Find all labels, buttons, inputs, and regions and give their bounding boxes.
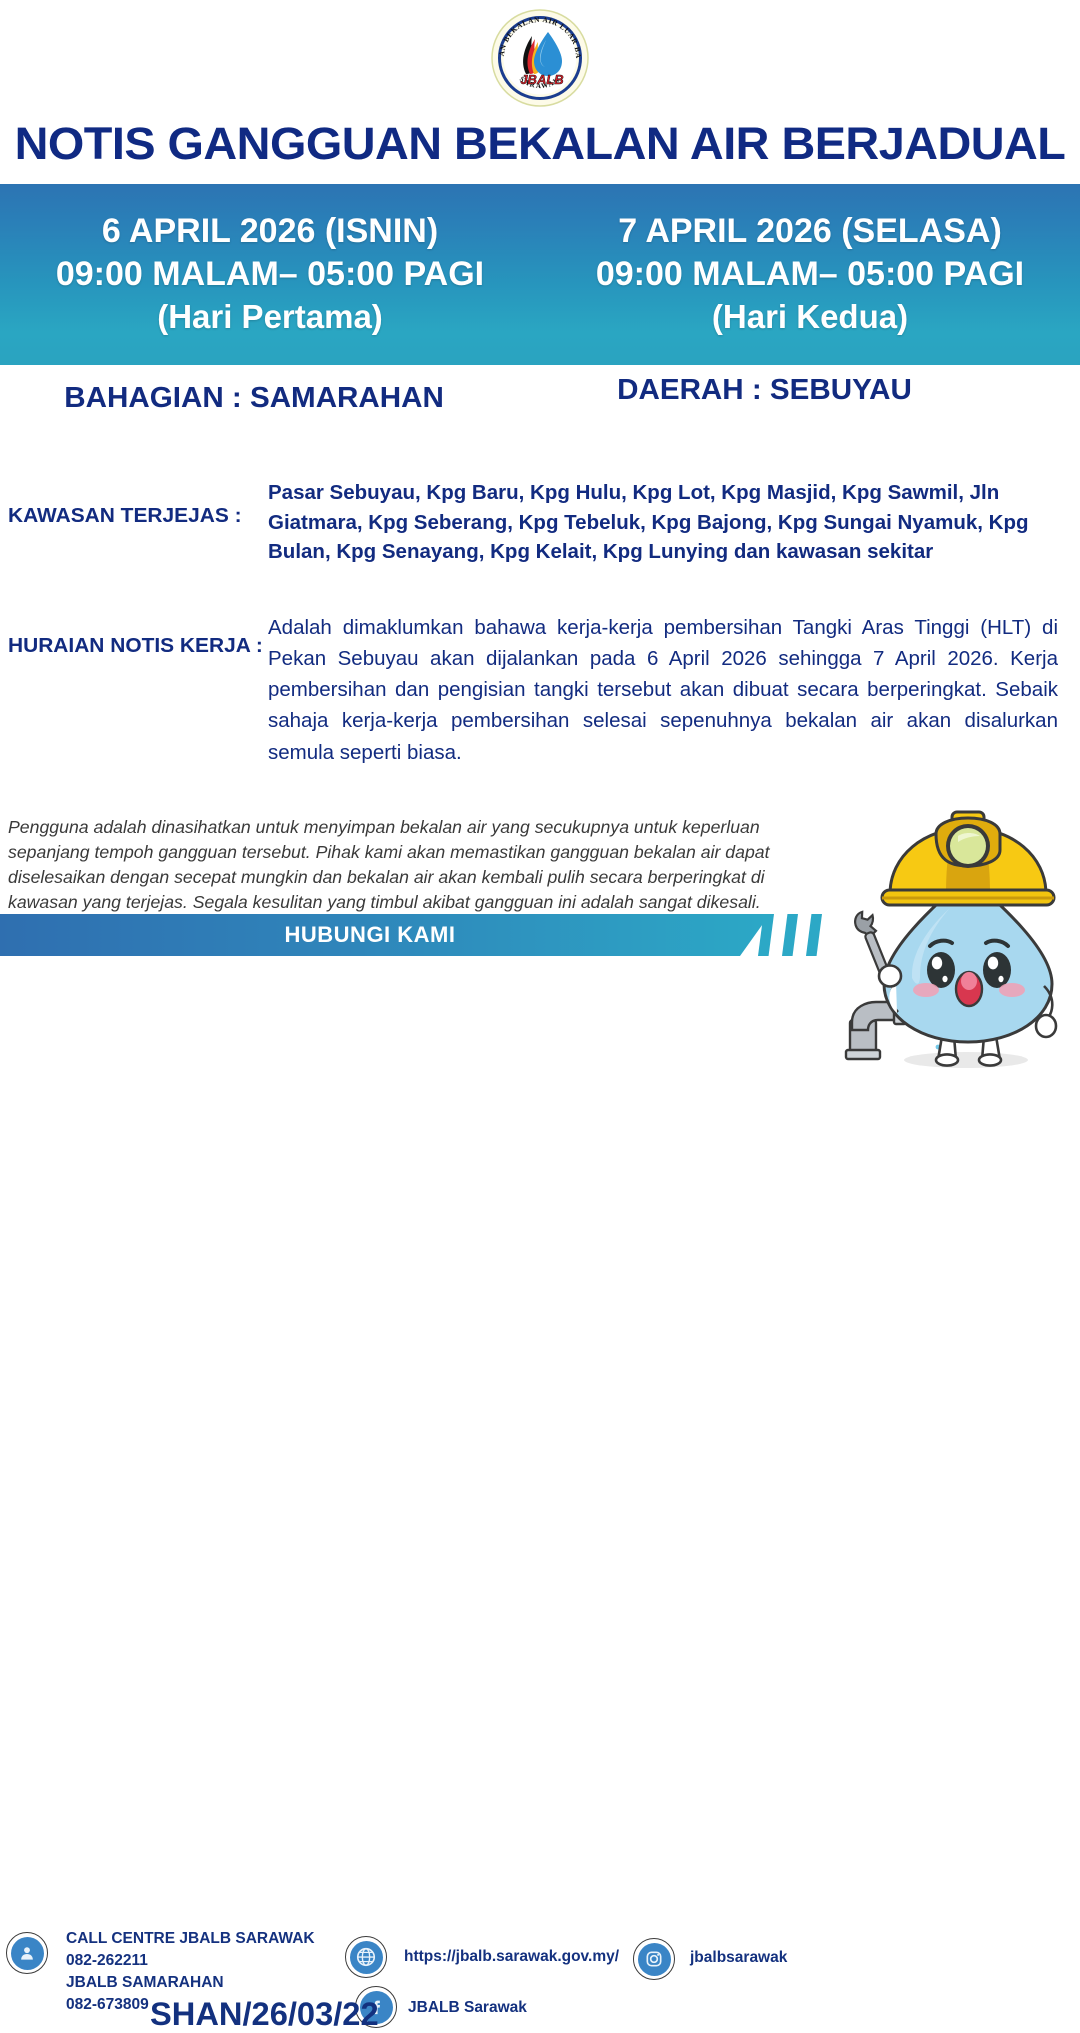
contact-banner-title: HUBUNGI KAMI bbox=[0, 914, 740, 956]
division-label: BAHAGIAN : SAMARAHAN bbox=[64, 382, 444, 415]
affected-areas-label: KAWASAN TERJEJAS : bbox=[8, 478, 273, 528]
jbalb-logo: JABATAN BEKALAN AIR LUAR BANDAR SARAWAK … bbox=[490, 8, 590, 108]
instagram-icon[interactable] bbox=[633, 1938, 675, 1980]
schedule-date: 6 APRIL 2026 (ISNIN) bbox=[102, 210, 438, 253]
branch-name: JBALB SAMARAHAN bbox=[66, 1972, 315, 1994]
schedule-day-1: 6 APRIL 2026 (ISNIN) 09:00 MALAM– 05:00 … bbox=[0, 184, 540, 365]
globe-icon[interactable] bbox=[345, 1936, 387, 1978]
logo-container: JABATAN BEKALAN AIR LUAR BANDAR SARAWAK … bbox=[0, 8, 1080, 108]
call-centre-phone: 082-262211 bbox=[66, 1950, 315, 1972]
schedule-day-2: 7 APRIL 2026 (SELASA) 09:00 MALAM– 05:00… bbox=[540, 184, 1080, 365]
schedule-date: 7 APRIL 2026 (SELASA) bbox=[618, 210, 1002, 253]
affected-areas-value: Pasar Sebuyau, Kpg Baru, Kpg Hulu, Kpg L… bbox=[268, 478, 1058, 567]
region-row: BAHAGIAN : SAMARAHAN DAERAH : SEBUYAU bbox=[0, 382, 1080, 430]
facebook-page[interactable]: JBALB Sarawak bbox=[408, 1997, 527, 2019]
schedule-banner: 6 APRIL 2026 (ISNIN) 09:00 MALAM– 05:00 … bbox=[0, 184, 1080, 365]
schedule-day-label: (Hari Pertama) bbox=[157, 296, 383, 339]
reference-code: SHAN/26/03/22 bbox=[150, 1996, 379, 2033]
page-title: NOTIS GANGGUAN BEKALAN AIR BERJADUAL bbox=[0, 118, 1080, 170]
instagram-handle[interactable]: jbalbsarawak bbox=[690, 1947, 787, 1969]
svg-text:JBALB: JBALB bbox=[520, 72, 563, 87]
diagonal-stripe-icon bbox=[782, 914, 798, 956]
district-label: DAERAH : SEBUYAU bbox=[617, 374, 912, 407]
schedule-time: 09:00 MALAM– 05:00 PAGI bbox=[596, 253, 1024, 296]
website-link[interactable]: https://jbalb.sarawak.gov.my/ bbox=[404, 1946, 619, 1968]
advisory-note: Pengguna adalah dinasihatkan untuk menyi… bbox=[8, 815, 806, 914]
diagonal-stripe-icon bbox=[806, 914, 822, 956]
water-droplet-worker-mascot bbox=[838, 798, 1080, 1080]
work-description-value: Adalah dimaklumkan bahawa kerja-kerja pe… bbox=[268, 612, 1058, 768]
affected-areas-row: KAWASAN TERJEJAS : Pasar Sebuyau, Kpg Ba… bbox=[8, 478, 1068, 567]
work-description-label: HURAIAN NOTIS KERJA : bbox=[8, 612, 273, 658]
call-centre-name: CALL CENTRE JBALB SARAWAK bbox=[66, 1928, 315, 1950]
schedule-time: 09:00 MALAM– 05:00 PAGI bbox=[56, 253, 484, 296]
user-icon bbox=[6, 1932, 48, 1974]
work-description-row: HURAIAN NOTIS KERJA : Adalah dimaklumkan… bbox=[8, 612, 1068, 768]
schedule-day-label: (Hari Kedua) bbox=[712, 296, 908, 339]
notice-page: JABATAN BEKALAN AIR LUAR BANDAR SARAWAK … bbox=[0, 0, 1080, 1080]
